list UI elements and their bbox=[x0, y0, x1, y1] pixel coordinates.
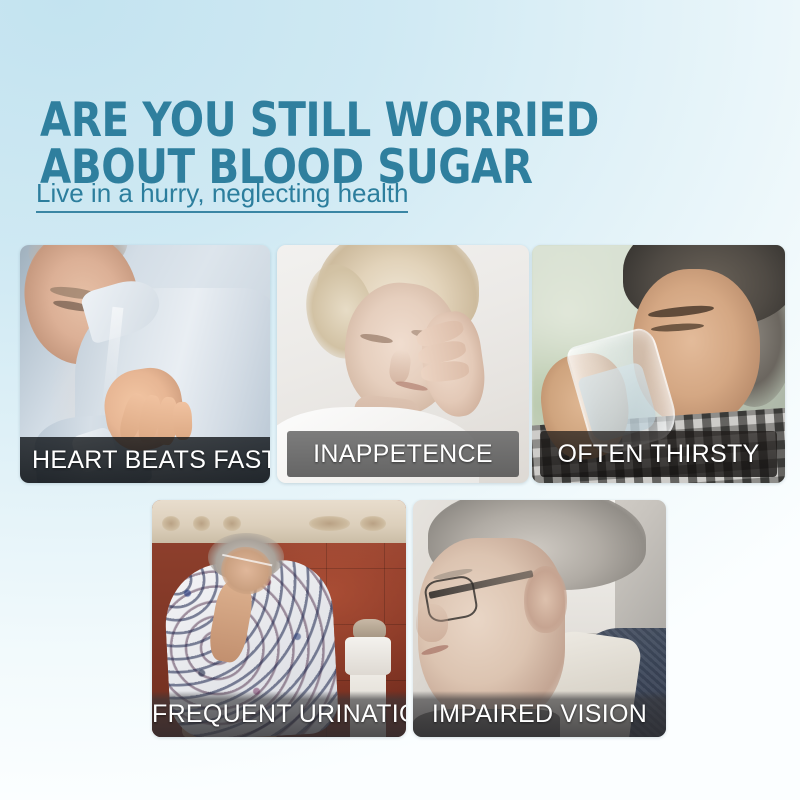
poster-canvas: ARE YOU STILL WORRIED ABOUT BLOOD SUGAR … bbox=[0, 0, 800, 800]
symptom-caption: HEART BEATS FASTER bbox=[20, 437, 270, 483]
photo-detail-nose bbox=[416, 604, 449, 642]
photo-detail-motif bbox=[193, 516, 211, 531]
photo-detail-motif bbox=[309, 516, 350, 531]
symptom-card-impaired-vision[interactable]: IMPAIRED VISION bbox=[413, 500, 666, 737]
photo-detail-motif bbox=[360, 516, 385, 531]
symptom-caption: OFTEN THIRSTY bbox=[540, 431, 777, 477]
photo-detail-finger bbox=[172, 402, 192, 441]
photo-detail-toilet-paper bbox=[345, 637, 391, 675]
photo-detail-motif bbox=[162, 516, 180, 531]
symptom-card-frequent-urination[interactable]: FREQUENT URINATION bbox=[152, 500, 406, 737]
symptom-card-heart-beats-faster[interactable]: HEART BEATS FASTER bbox=[20, 245, 270, 483]
symptom-card-often-thirsty[interactable]: OFTEN THIRSTY bbox=[532, 245, 785, 483]
photo-detail-tile-border bbox=[152, 500, 406, 543]
symptom-caption: INAPPETENCE bbox=[287, 431, 519, 477]
page-subtitle: Live in a hurry, neglecting health bbox=[36, 178, 408, 213]
symptom-caption: FREQUENT URINATION bbox=[152, 691, 406, 737]
symptom-card-inappetence[interactable]: INAPPETENCE bbox=[277, 245, 529, 483]
photo-detail-motif bbox=[223, 516, 241, 531]
symptom-caption: IMPAIRED VISION bbox=[413, 691, 666, 737]
